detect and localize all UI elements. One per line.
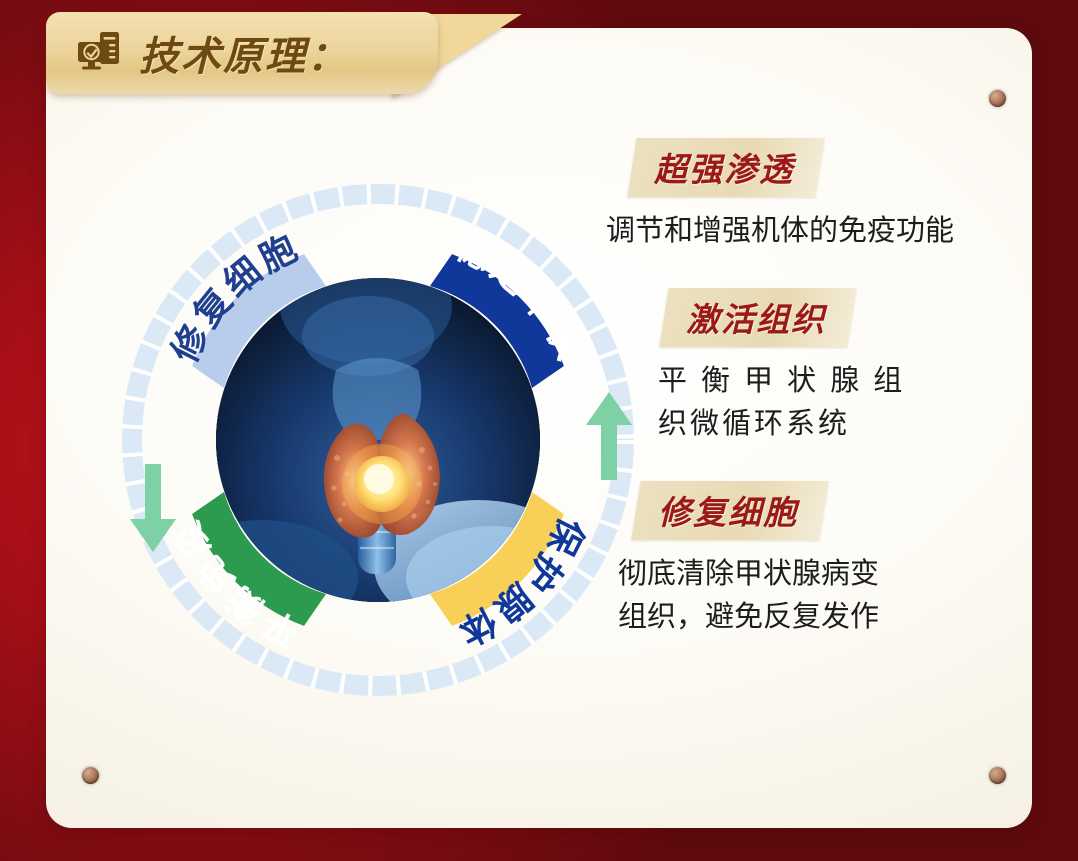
- corner-rivet: [989, 767, 1006, 784]
- feature-heading-banner: 超强渗透: [627, 138, 824, 197]
- circular-diagram: 修复细胞 稳定甲状 保护腺体 平衡免疫: [76, 158, 666, 758]
- feature-body-line: 调节和增强机体的免疫功能: [606, 210, 1076, 254]
- feature-item: 修复细胞 彻底清除甲状腺病变 组织，避免反复发作: [606, 481, 1076, 640]
- feature-body-line: 组织，避免反复发作: [618, 596, 1076, 640]
- corner-rivet: [989, 90, 1006, 107]
- monitor-check-icon: [76, 30, 122, 76]
- feature-body: 平 衡 甲 状 腺 组 织微循环系统: [606, 360, 1076, 447]
- feature-body-line: 平 衡 甲 状 腺 组: [658, 360, 1076, 404]
- header-ribbon: 技术原理：: [0, 0, 560, 110]
- ribbon-body: 技术原理：: [46, 12, 438, 94]
- content-card: 修复细胞 稳定甲状 保护腺体 平衡免疫: [46, 28, 1032, 828]
- feature-item: 超强渗透 调节和增强机体的免疫功能: [606, 138, 1076, 254]
- feature-heading-banner: 激活组织: [659, 288, 856, 347]
- corner-rivet: [82, 767, 99, 784]
- feature-heading-text: 激活组织: [686, 293, 826, 341]
- thyroid-illustration: [216, 278, 540, 602]
- feature-heading-banner: 修复细胞: [631, 481, 828, 540]
- feature-heading-text: 修复细胞: [658, 486, 798, 534]
- feature-body-line: 彻底清除甲状腺病变: [618, 553, 1076, 597]
- feature-item: 激活组织 平 衡 甲 状 腺 组 织微循环系统: [606, 288, 1076, 447]
- feature-body: 彻底清除甲状腺病变 组织，避免反复发作: [606, 553, 1076, 640]
- feature-list: 超强渗透 调节和增强机体的免疫功能 激活组织 平 衡 甲 状 腺 组 织微循环系…: [606, 138, 1076, 674]
- feature-body-line: 织微循环系统: [658, 403, 1076, 447]
- feature-body: 调节和增强机体的免疫功能: [606, 210, 1076, 254]
- header-title: 技术原理：: [139, 24, 349, 82]
- feature-heading-text: 超强渗透: [654, 143, 794, 191]
